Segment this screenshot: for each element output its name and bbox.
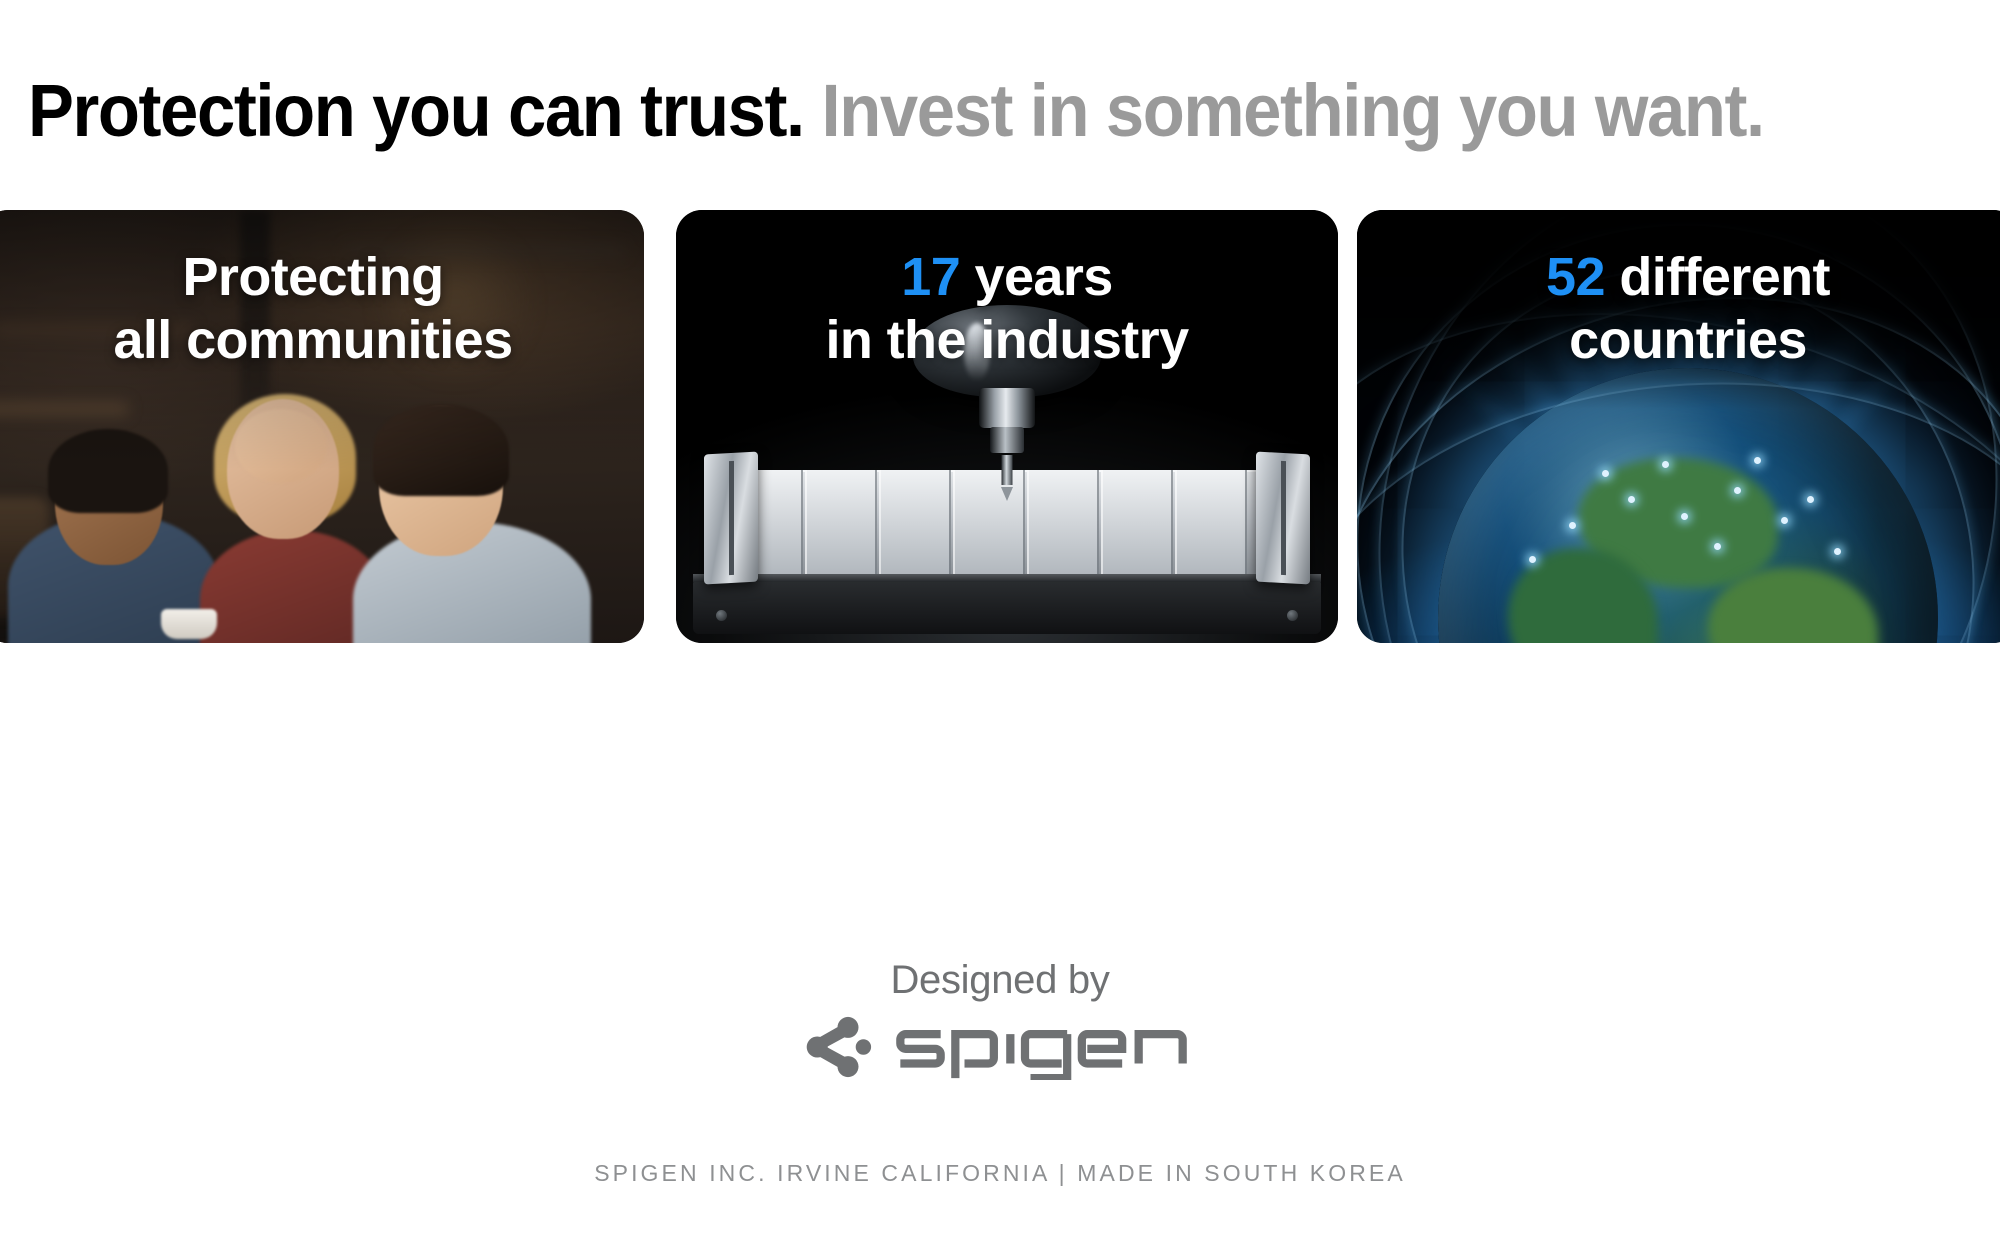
cnc-bed-tile: [1175, 470, 1247, 574]
cnc-bed-tile: [1027, 470, 1099, 574]
card-2-caption-line-2: in the industry: [676, 309, 1338, 372]
headline-primary: Protection you can trust.: [28, 69, 804, 152]
page-headline: Protection you can trust. Invest in some…: [28, 68, 1764, 153]
cnc-bed-tile: [879, 470, 951, 574]
card-2-stat-unit: years: [960, 247, 1113, 307]
headline-secondary: Invest in something you want.: [822, 69, 1764, 152]
legal-footer: SPIGEN INC. IRVINE CALIFORNIA | MADE IN …: [0, 1160, 2000, 1187]
globe-network-node: [1807, 496, 1814, 503]
globe-network-node: [1834, 548, 1841, 555]
globe-network-node: [1662, 461, 1669, 468]
brand-block: Designed by: [0, 960, 2000, 1082]
card-3-caption: 52 different countries: [1357, 246, 2000, 371]
cnc-bed-tile: [805, 470, 877, 574]
card-3-caption-line-2: countries: [1357, 309, 2000, 372]
globe-network-node: [1569, 522, 1576, 529]
feature-card-row: Protecting all communities 17 years in t…: [0, 210, 2000, 643]
designed-by-label: Designed by: [0, 960, 2000, 1000]
card-2-caption-line-1: 17 years: [676, 246, 1338, 309]
spigen-molecule-icon: [805, 1012, 877, 1082]
card-3-caption-line-1: 52 different: [1357, 246, 2000, 309]
feature-card-protecting-all-communities[interactable]: Protecting all communities: [0, 210, 644, 643]
card-1-caption-line-2: all communities: [0, 309, 644, 372]
spigen-logo: [0, 1012, 2000, 1082]
cnc-bed-tile: [1101, 470, 1173, 574]
globe-network-node: [1602, 470, 1609, 477]
globe-network-node: [1754, 457, 1761, 464]
card-1-caption: Protecting all communities: [0, 246, 644, 371]
feature-card-52-different-countries[interactable]: 52 different countries: [1357, 210, 2000, 643]
cnc-bed-tile: [953, 470, 1025, 574]
card-1-caption-line-1: Protecting: [0, 246, 644, 309]
card-2-caption: 17 years in the industry: [676, 246, 1338, 371]
card-3-stat-unit: different: [1605, 247, 1830, 307]
spigen-wordmark: [893, 1014, 1196, 1080]
card-2-stat-number: 17: [901, 247, 960, 307]
feature-card-17-years-in-the-industry[interactable]: 17 years in the industry: [676, 210, 1338, 643]
card-3-stat-number: 52: [1546, 247, 1605, 307]
